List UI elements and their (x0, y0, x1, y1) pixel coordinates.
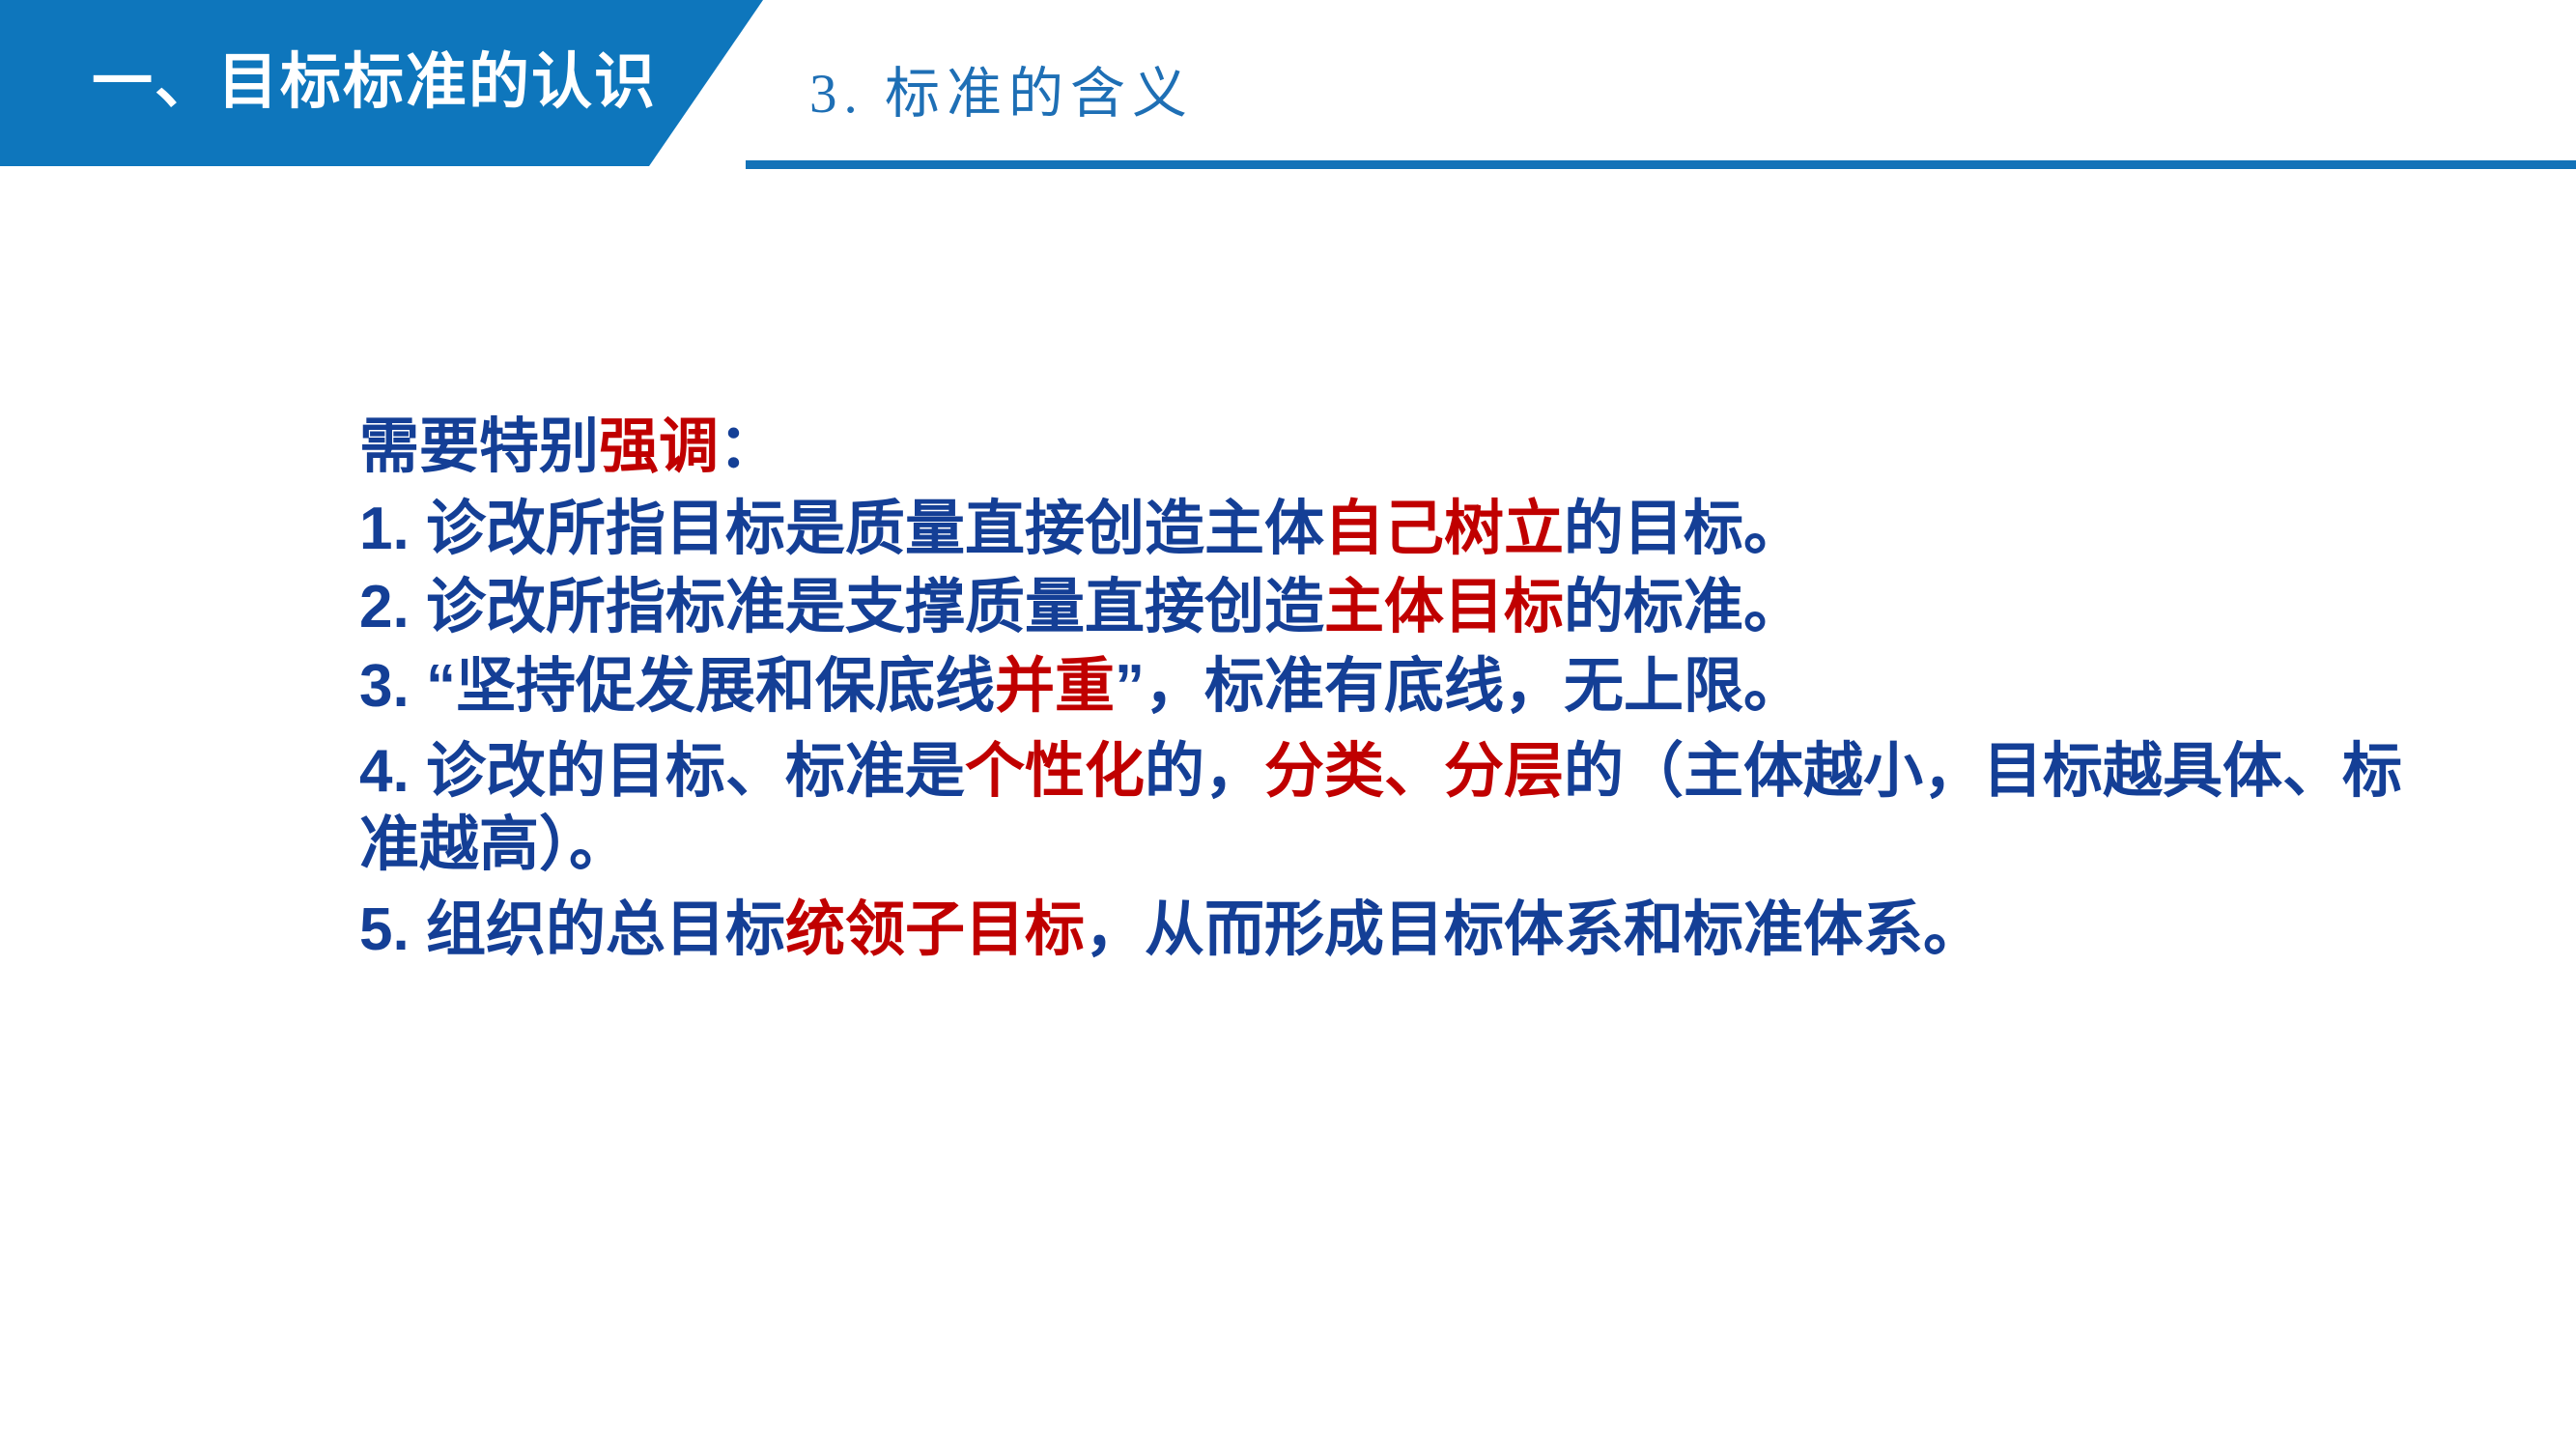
header-section-title: 3. 标准的含义 (809, 58, 1194, 132)
list-item-emphasis: 个性化 (965, 738, 1145, 805)
list-item-text-2: 的， (1145, 738, 1264, 805)
list-item-number: 2. (359, 574, 410, 640)
list-item-number: 4. (359, 738, 410, 805)
list-item-text-1: 诊改的目标、标准是 (410, 738, 965, 805)
list-item: 2. 诊改所指标准是支撑质量直接创造主体目标的标准。 (359, 578, 2436, 639)
slide-header: 一、目标标准的认识 3. 标准的含义 (0, 0, 2576, 184)
list-item-number: 3. (359, 653, 410, 720)
list-item: 4. 诊改的目标、标准是个性化的，分类、分层的（主体越小，目标越具体、标准越高）… (359, 735, 2436, 881)
list-item-emphasis: 自己树立 (1324, 496, 1564, 562)
header-divider-rule (746, 160, 2576, 169)
list-item-emphasis-secondary: 分类、分层 (1264, 738, 1564, 805)
list-item-text-2: ，从而形成目标体系和标准体系。 (1085, 896, 1983, 963)
list-item: 5. 组织的总目标统领子目标，从而形成目标体系和标准体系。 (359, 900, 2436, 961)
list-item-text-1: 诊改所指标准是支撑质量直接创造 (410, 574, 1324, 640)
list-item-emphasis: 并重 (995, 653, 1115, 720)
list-item-text-1: 组织的总目标 (410, 896, 785, 963)
list-item-text-1: 诊改所指目标是质量直接创造主体 (410, 496, 1324, 562)
list-item: 1. 诊改所指目标是质量直接创造主体自己树立的目标。 (359, 499, 2436, 560)
list-item-text-2: 的标准。 (1564, 574, 1803, 640)
lead-text-after: ： (719, 413, 778, 480)
body-content: 需要特别强调： 1. 诊改所指目标是质量直接创造主体自己树立的目标。 2. 诊改… (359, 417, 2436, 979)
lead-emphasis: 强调 (599, 413, 719, 480)
header-banner-title: 一、目标标准的认识 (92, 52, 657, 113)
list-item-emphasis: 主体目标 (1324, 574, 1564, 640)
list-item: 3. “坚持促发展和保底线并重”，标准有底线，无上限。 (359, 657, 2436, 718)
list-item-number: 5. (359, 896, 410, 963)
list-item-text-2: 的目标。 (1564, 496, 1803, 562)
list-item-text-1: “坚持促发展和保底线 (410, 653, 995, 720)
lead-line: 需要特别强调： (359, 417, 2436, 478)
lead-text-before: 需要特别 (359, 413, 599, 480)
list-item-number: 1. (359, 496, 410, 562)
list-item-emphasis: 统领子目标 (785, 896, 1085, 963)
list-item-text-2: ”，标准有底线，无上限。 (1115, 653, 1803, 720)
slide-canvas: 一、目标标准的认识 3. 标准的含义 需要特别强调： 1. 诊改所指目标是质量直… (0, 0, 2576, 1450)
